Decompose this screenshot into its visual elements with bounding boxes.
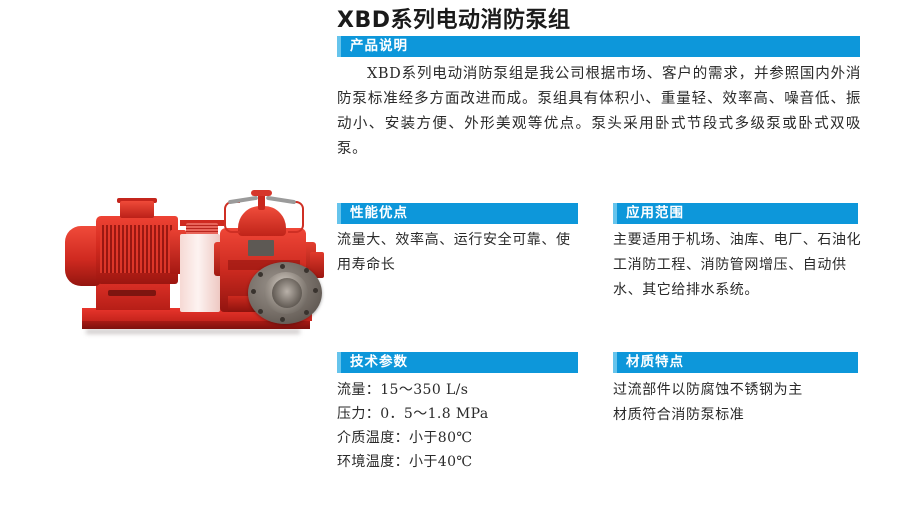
product-image-pump [52, 168, 342, 353]
description-text: XBD系列电动消防泵组是我公司根据市场、客户的需求，并参照国内外消防泵标准经多方… [337, 62, 861, 162]
tie-rod-left [228, 196, 258, 205]
lifting-handle-left [224, 201, 240, 233]
section-header-label: 材质特点 [617, 352, 684, 373]
section-header-description: 产品说明 [337, 36, 860, 57]
base-shadow [86, 329, 300, 334]
section-header-label: 性能优点 [341, 203, 408, 224]
valve-stem-cap [251, 190, 272, 196]
technical-spec-list: 流量：15～350 L/s 压力：0．5～1.8 MPa 介质温度：小于80℃ … [337, 378, 587, 474]
section-header-label: 产品说明 [341, 36, 408, 57]
flange-bolt [280, 264, 285, 269]
motor-cooling-fins [100, 225, 174, 273]
spec-row: 环境温度：小于40℃ [337, 450, 587, 474]
spec-row: 流量：15～350 L/s [337, 378, 587, 402]
spec-row: 压力：0．5～1.8 MPa [337, 402, 587, 426]
page-title: XBD系列电动消防泵组 [337, 2, 571, 34]
section-header-label: 技术参数 [341, 352, 408, 373]
flange-bolt [280, 317, 285, 322]
section-header-application: 应用范围 [613, 203, 858, 224]
section-header-technical: 技术参数 [337, 352, 578, 373]
lifting-handle-right [288, 201, 304, 233]
spec-row: 介质温度：小于80℃ [337, 426, 587, 450]
suction-flange-inner-bore [272, 278, 302, 308]
performance-text: 流量大、效率高、运行安全可靠、使用寿命长 [337, 228, 585, 278]
flange-bolt [258, 309, 263, 314]
tie-rod-right [266, 196, 296, 205]
material-line: 材质符合消防泵标准 [613, 403, 863, 428]
pedestal-slot [108, 290, 156, 296]
flange-bolt [313, 288, 318, 293]
motor-terminal-box [120, 201, 154, 218]
flange-bolt [304, 268, 309, 273]
section-header-performance: 性能优点 [337, 203, 578, 224]
flange-bolt [258, 272, 263, 277]
material-line: 过流部件以防腐蚀不锈钢为主 [613, 378, 863, 403]
volute-dome [238, 206, 286, 236]
section-header-label: 应用范围 [617, 203, 684, 224]
material-text: 过流部件以防腐蚀不锈钢为主 材质符合消防泵标准 [613, 378, 863, 428]
section-header-material: 材质特点 [613, 352, 858, 373]
flange-bolt [304, 310, 309, 315]
flange-bolt [251, 289, 256, 294]
pump-nameplate [248, 240, 274, 256]
application-text: 主要适用于机场、油库、电厂、石油化工消防工程、消防管网增压、自动供水、其它给排水… [613, 228, 863, 303]
